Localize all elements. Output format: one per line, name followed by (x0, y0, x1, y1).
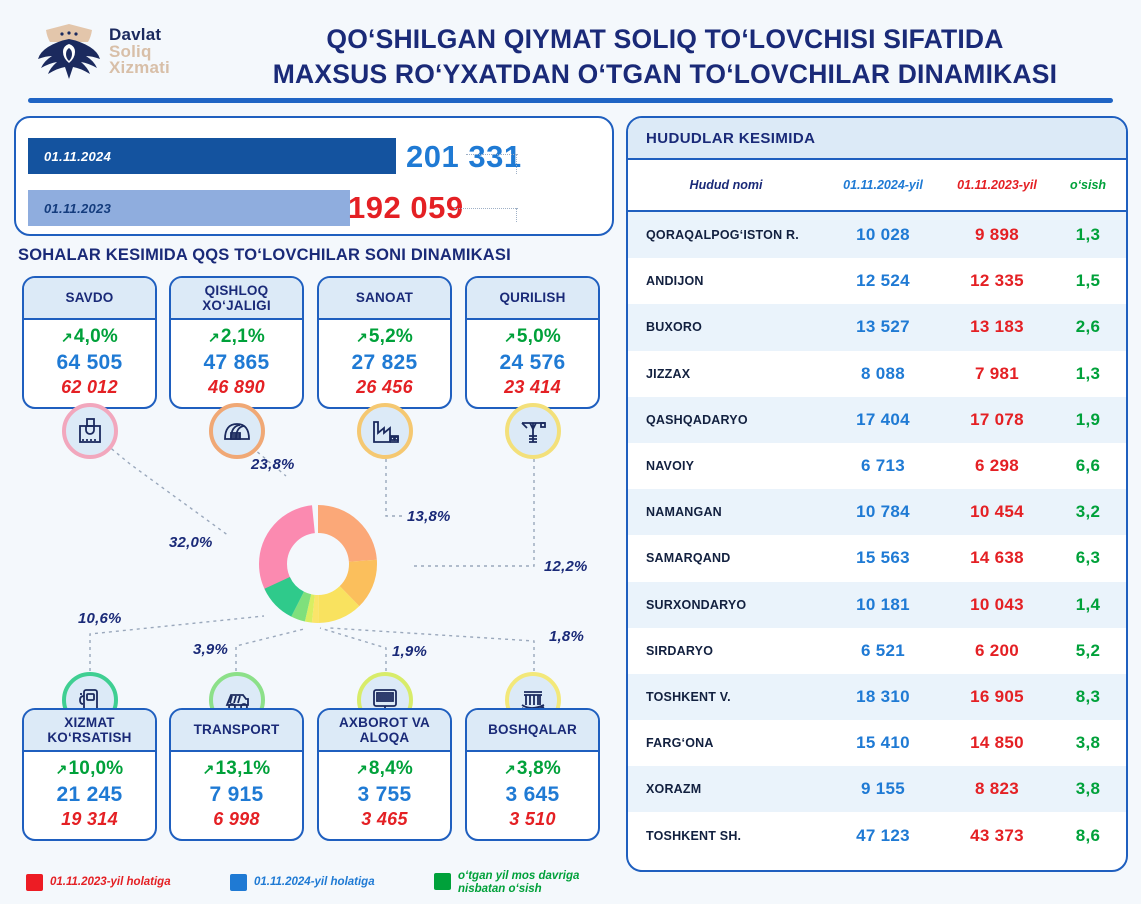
table-cell-region: BUXORO (628, 320, 824, 334)
table-cell-2023: 10 454 (942, 502, 1052, 522)
sector-value-2024-transport: 7 915 (171, 781, 302, 808)
table-cell-growth: 1,3 (1052, 364, 1124, 384)
table-col-region: Hudud nomi (628, 178, 824, 192)
legend-label-2024: 01.11.2024-yil holatiga (254, 876, 375, 889)
table-cell-2023: 6 200 (942, 641, 1052, 661)
donut-label-sanoat: 13,8% (407, 508, 451, 525)
legend-item-2023: 01.11.2023-yil holatiga (26, 874, 171, 891)
table-cell-growth: 2,6 (1052, 317, 1124, 337)
table-col-2023: 01.11.2023-yil (942, 178, 1052, 192)
legend-item-2024: 01.11.2024-yil holatiga (230, 874, 375, 891)
sector-donut-chart (258, 504, 378, 624)
legend-label-2023: 01.11.2023-yil holatiga (50, 876, 171, 889)
table-row[interactable]: BUXORO13 52713 1832,6 (628, 304, 1126, 350)
table-cell-region: QORAQALPOG‘ISTON R. (628, 228, 824, 242)
sector-card-sanoat[interactable]: SANOAT ↗5,2% 27 825 26 456 (317, 276, 452, 409)
table-cell-region: NAVOIY (628, 459, 824, 473)
donut-label-axborot: 1,9% (392, 643, 427, 660)
summary-bar-2024-label: 01.11.2024 (28, 149, 111, 164)
table-cell-region: TOSHKENT V. (628, 690, 824, 704)
table-cell-2024: 10 181 (824, 595, 942, 615)
table-cell-growth: 3,2 (1052, 502, 1124, 522)
sector-value-2023-axborot: 3 465 (319, 808, 450, 831)
table-row[interactable]: NAMANGAN10 78410 4543,2 (628, 489, 1126, 535)
arrow-up-icon: ↗ (356, 761, 368, 777)
arrow-up-icon: ↗ (504, 329, 516, 345)
badge-connector-left-top (516, 154, 517, 174)
table-cell-growth: 3,8 (1052, 733, 1124, 753)
sector-card-qishloq[interactable]: QISHLOQ XO‘JALIGI ↗2,1% 47 865 46 890 (169, 276, 304, 409)
table-row[interactable]: FARG‘ONA15 41014 8503,8 (628, 720, 1126, 766)
sector-growth-qurilish: ↗5,0% (467, 325, 598, 349)
sector-value-2024-axborot: 3 755 (319, 781, 450, 808)
sector-name-qishloq: QISHLOQ XO‘JALIGI (171, 278, 302, 320)
summary-bar-2024: 01.11.2024 (28, 138, 396, 174)
table-cell-growth: 1,3 (1052, 225, 1124, 245)
table-cell-2023: 8 823 (942, 779, 1052, 799)
table-row[interactable]: QORAQALPOG‘ISTON R.10 0289 8981,3 (628, 212, 1126, 258)
sector-card-boshqalar[interactable]: BOSHQALAR ↗3,8% 3 645 3 510 (465, 708, 600, 841)
crane-icon (505, 403, 561, 459)
sector-name-boshqalar: BOSHQALAR (467, 710, 598, 752)
sector-card-savdo[interactable]: SAVDO ↗4,0% 64 505 62 012 (22, 276, 157, 409)
table-header-row: Hudud nomi 01.11.2024-yil 01.11.2023-yil… (628, 160, 1126, 212)
sector-name-transport: TRANSPORT (171, 710, 302, 752)
shopping-bag-icon (62, 403, 118, 459)
donut-label-qishloq: 23,8% (251, 456, 295, 473)
table-cell-2024: 13 527 (824, 317, 942, 337)
table-cell-2023: 10 043 (942, 595, 1052, 615)
table-row[interactable]: JIZZAX8 0887 9811,3 (628, 351, 1126, 397)
sector-card-qurilish[interactable]: QURILISH ↗5,0% 24 576 23 414 (465, 276, 600, 409)
section-heading: SOHALAR KESIMIDA QQS TO‘LOVCHILAR SONI D… (18, 246, 511, 265)
table-cell-2023: 7 981 (942, 364, 1052, 384)
table-row[interactable]: SAMARQAND15 56314 6386,3 (628, 535, 1126, 581)
table-cell-2023: 17 078 (942, 410, 1052, 430)
table-cell-region: FARG‘ONA (628, 736, 824, 750)
legend-item-growth: o‘tgan yil mos davriga nisbatan o‘sish (434, 870, 614, 896)
sector-name-axborot: AXBOROT VA ALOQA (319, 710, 450, 752)
table-cell-2024: 10 028 (824, 225, 942, 245)
table-row[interactable]: QASHQADARYO17 40417 0781,9 (628, 397, 1126, 443)
arrow-up-icon: ↗ (356, 329, 368, 345)
table-cell-region: XORAZM (628, 782, 824, 796)
sector-card-axborot[interactable]: AXBOROT VA ALOQA ↗8,4% 3 755 3 465 (317, 708, 452, 841)
table-cell-2023: 14 638 (942, 548, 1052, 568)
table-cell-2024: 6 521 (824, 641, 942, 661)
sector-growth-sanoat: ↗5,2% (319, 325, 450, 349)
summary-bar-2023-label: 01.11.2023 (28, 201, 111, 216)
sector-value-2023-qurilish: 23 414 (467, 376, 598, 399)
table-cell-region: SIRDARYO (628, 644, 824, 658)
donut-label-qurilish: 12,2% (544, 558, 588, 575)
sector-value-2024-sanoat: 27 825 (319, 349, 450, 376)
arrow-up-icon: ↗ (61, 329, 73, 345)
table-cell-growth: 8,3 (1052, 687, 1124, 707)
table-cell-2023: 16 905 (942, 687, 1052, 707)
legend-swatch-green (434, 873, 451, 890)
table-col-growth: o‘sish (1052, 178, 1124, 192)
eagle-emblem-icon (36, 21, 102, 83)
sector-growth-qishloq: ↗2,1% (171, 325, 302, 349)
sector-card-transport[interactable]: TRANSPORT ↗13,1% 7 915 6 998 (169, 708, 304, 841)
table-row[interactable]: TOSHKENT SH.47 12343 3738,6 (628, 812, 1126, 858)
table-cell-growth: 1,9 (1052, 410, 1124, 430)
sector-value-2023-savdo: 62 012 (24, 376, 155, 399)
summary-card: 01.11.2024 01.11.2023 201 331 192 059 (14, 116, 614, 236)
sector-value-2023-qishloq: 46 890 (171, 376, 302, 399)
table-cell-2023: 14 850 (942, 733, 1052, 753)
donut-label-xizmat: 10,6% (78, 610, 122, 627)
factory-icon (357, 403, 413, 459)
table-cell-2023: 6 298 (942, 456, 1052, 476)
donut-label-boshqalar: 1,8% (549, 628, 584, 645)
table-row[interactable]: SURXONDARYO10 18110 0431,4 (628, 582, 1126, 628)
header-divider (28, 98, 1113, 103)
table-cell-growth: 5,2 (1052, 641, 1124, 661)
table-cell-growth: 1,5 (1052, 271, 1124, 291)
sector-name-sanoat: SANOAT (319, 278, 450, 320)
page-header: Davlat Soliq Xizmati QO‘SHILGAN QIYMAT S… (0, 0, 1141, 104)
table-cell-region: SURXONDARYO (628, 598, 824, 612)
sector-value-2024-xizmat: 21 245 (24, 781, 155, 808)
summary-bar-2023: 01.11.2023 (28, 190, 350, 226)
table-row[interactable]: XORAZM9 1558 8233,8 (628, 766, 1126, 812)
table-cell-region: ANDIJON (628, 274, 824, 288)
arrow-up-icon: ↗ (208, 329, 220, 345)
table-cell-region: TOSHKENT SH. (628, 829, 824, 843)
sector-growth-xizmat: ↗10,0% (24, 757, 155, 781)
sector-growth-axborot: ↗8,4% (319, 757, 450, 781)
sector-name-savdo: SAVDO (24, 278, 155, 320)
sector-value-2023-boshqalar: 3 510 (467, 808, 598, 831)
greenhouse-icon (209, 403, 265, 459)
table-cell-2024: 18 310 (824, 687, 942, 707)
table-body: QORAQALPOG‘ISTON R.10 0289 8981,3ANDIJON… (628, 212, 1126, 859)
sector-name-xizmat: XIZMAT KO‘RSATISH (24, 710, 155, 752)
table-cell-2024: 10 784 (824, 502, 942, 522)
table-cell-growth: 1,4 (1052, 595, 1124, 615)
left-column: 01.11.2024 01.11.2023 201 331 192 059 ↗ … (14, 116, 614, 888)
brand-logo: Davlat Soliq Xizmati (36, 16, 211, 88)
table-cell-region: SAMARQAND (628, 551, 824, 565)
sector-growth-savdo: ↗4,0% (24, 325, 155, 349)
table-cell-2024: 15 410 (824, 733, 942, 753)
table-cell-region: JIZZAX (628, 367, 824, 381)
logo-line-3: Xizmati (109, 60, 170, 77)
page-title: QO‘SHILGAN QIYMAT SOLIQ TO‘LOVCHISI SIFA… (215, 22, 1115, 92)
table-cell-2024: 15 563 (824, 548, 942, 568)
sector-value-2023-xizmat: 19 314 (24, 808, 155, 831)
badge-connector-bottom (454, 208, 518, 209)
page-title-line-1: QO‘SHILGAN QIYMAT SOLIQ TO‘LOVCHISI SIFA… (215, 22, 1115, 57)
legend-swatch-red (26, 874, 43, 891)
table-cell-2023: 43 373 (942, 826, 1052, 846)
regions-table-card: HUDUDLAR KESIMIDA Hudud nomi 01.11.2024-… (626, 116, 1128, 872)
table-cell-growth: 8,6 (1052, 826, 1124, 846)
table-title: HUDUDLAR KESIMIDA (628, 118, 1126, 160)
donut-label-savdo: 32,0% (169, 534, 213, 551)
table-row[interactable]: NAVOIY6 7136 2986,6 (628, 443, 1126, 489)
table-cell-growth: 6,3 (1052, 548, 1124, 568)
chart-legend: 01.11.2023-yil holatiga 01.11.2024-yil h… (18, 868, 618, 904)
table-cell-region: QASHQADARYO (628, 413, 824, 427)
table-cell-2024: 8 088 (824, 364, 942, 384)
table-col-2024: 01.11.2024-yil (824, 178, 942, 192)
table-cell-2024: 12 524 (824, 271, 942, 291)
table-cell-2024: 9 155 (824, 779, 942, 799)
table-row[interactable]: TOSHKENT V.18 31016 9058,3 (628, 674, 1126, 720)
donut-label-transport: 3,9% (193, 641, 228, 658)
sector-value-2024-boshqalar: 3 645 (467, 781, 598, 808)
page-title-line-2: MAXSUS RO‘YXATDAN O‘TGAN TO‘LOVCHILAR DI… (215, 57, 1115, 92)
badge-connector-left-bottom (516, 208, 517, 222)
sector-card-xizmat[interactable]: XIZMAT KO‘RSATISH ↗10,0% 21 245 19 314 (22, 708, 157, 841)
sector-value-2024-savdo: 64 505 (24, 349, 155, 376)
sector-value-2023-sanoat: 26 456 (319, 376, 450, 399)
sector-value-2024-qurilish: 24 576 (467, 349, 598, 376)
table-cell-2023: 13 183 (942, 317, 1052, 337)
legend-label-growth: o‘tgan yil mos davriga nisbatan o‘sish (458, 870, 608, 896)
sector-growth-boshqalar: ↗3,8% (467, 757, 598, 781)
table-cell-2023: 9 898 (942, 225, 1052, 245)
table-row[interactable]: SIRDARYO6 5216 2005,2 (628, 628, 1126, 674)
sector-name-qurilish: QURILISH (467, 278, 598, 320)
badge-connector-top (466, 154, 518, 155)
table-cell-2024: 6 713 (824, 456, 942, 476)
table-cell-growth: 3,8 (1052, 779, 1124, 799)
arrow-up-icon: ↗ (56, 761, 68, 777)
sector-value-2024-qishloq: 47 865 (171, 349, 302, 376)
sector-value-2023-transport: 6 998 (171, 808, 302, 831)
summary-value-2024: 201 331 (406, 139, 522, 175)
table-cell-growth: 6,6 (1052, 456, 1124, 476)
sector-growth-transport: ↗13,1% (171, 757, 302, 781)
table-cell-region: NAMANGAN (628, 505, 824, 519)
table-cell-2024: 17 404 (824, 410, 942, 430)
arrow-up-icon: ↗ (504, 761, 516, 777)
summary-value-2023: 192 059 (348, 190, 464, 226)
legend-swatch-blue (230, 874, 247, 891)
table-row[interactable]: ANDIJON12 52412 3351,5 (628, 258, 1126, 304)
table-cell-2024: 47 123 (824, 826, 942, 846)
arrow-up-icon: ↗ (203, 761, 215, 777)
table-cell-2023: 12 335 (942, 271, 1052, 291)
